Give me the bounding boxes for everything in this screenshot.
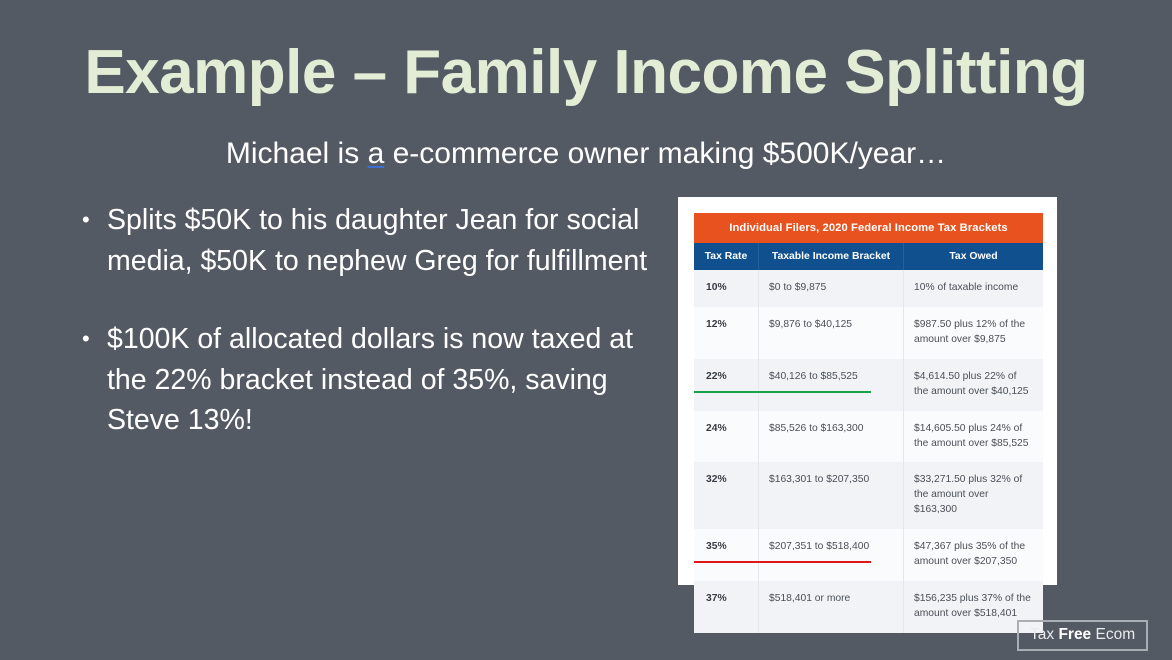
table-row: 35%$207,351 to $518,400$47,367 plus 35% … (694, 529, 1043, 581)
table-row: 10%$0 to $9,87510% of taxable income (694, 270, 1043, 307)
cell-taxable-income-bracket: $9,876 to $40,125 (759, 307, 904, 359)
column-header-tax-owed: Tax Owed (904, 243, 1044, 270)
logo-text-part-2: Free (1058, 626, 1091, 643)
cell-tax-rate: 32% (694, 462, 759, 529)
cell-tax-rate: 35% (694, 529, 759, 581)
page-title: Example – Family Income Splitting (0, 40, 1172, 105)
logo-text-part-1: Tax (1030, 626, 1058, 643)
column-header-taxable-income-bracket: Taxable Income Bracket (759, 243, 904, 270)
cell-taxable-income-bracket: $85,526 to $163,300 (759, 411, 904, 463)
cell-taxable-income-bracket: $163,301 to $207,350 (759, 462, 904, 529)
cell-tax-owed: $33,271.50 plus 32% of the amount over $… (904, 462, 1044, 529)
tax-bracket-table: Individual Filers, 2020 Federal Income T… (694, 213, 1043, 633)
table-row: 32%$163,301 to $207,350$33,271.50 plus 3… (694, 462, 1043, 529)
table-header: Tax Rate Taxable Income Bracket Tax Owed (694, 243, 1043, 270)
spellcheck-underlined-word: a (368, 137, 385, 170)
table-header-row: Tax Rate Taxable Income Bracket Tax Owed (694, 243, 1043, 270)
table-body: 10%$0 to $9,87510% of taxable income12%$… (694, 270, 1043, 633)
logo-text-part-3: Ecom (1091, 626, 1135, 643)
slide-subtitle: Michael is a e-commerce owner making $50… (0, 136, 1172, 172)
cell-tax-rate: 24% (694, 411, 759, 463)
column-header-tax-rate: Tax Rate (694, 243, 759, 270)
cell-tax-owed: $4,614.50 plus 22% of the amount over $4… (904, 359, 1044, 411)
tax-bracket-table-card: Individual Filers, 2020 Federal Income T… (678, 197, 1057, 585)
cell-tax-owed: $14,605.50 plus 24% of the amount over $… (904, 411, 1044, 463)
cell-tax-rate: 10% (694, 270, 759, 307)
subtitle-prefix: Michael is (226, 137, 368, 170)
cell-tax-rate: 22% (694, 359, 759, 411)
list-item-text: Splits $50K to his daughter Jean for soc… (107, 200, 654, 281)
table-row: 22%$40,126 to $85,525$4,614.50 plus 22% … (694, 359, 1043, 411)
cell-taxable-income-bracket: $518,401 or more (759, 581, 904, 633)
table-banner-title: Individual Filers, 2020 Federal Income T… (694, 213, 1043, 243)
cell-tax-owed: $47,367 plus 35% of the amount over $207… (904, 529, 1044, 581)
list-item-text: $100K of allocated dollars is now taxed … (107, 319, 654, 441)
subtitle-suffix: e-commerce owner making $500K/year… (384, 137, 946, 170)
table-row: 37%$518,401 or more$156,235 plus 37% of … (694, 581, 1043, 633)
bullet-dot-icon: • (74, 319, 107, 360)
cell-tax-owed: 10% of taxable income (904, 270, 1044, 307)
brand-logo: Tax Free Ecom (1017, 620, 1148, 651)
cell-taxable-income-bracket: $0 to $9,875 (759, 270, 904, 307)
cell-taxable-income-bracket: $207,351 to $518,400 (759, 529, 904, 581)
list-item: • Splits $50K to his daughter Jean for s… (74, 200, 654, 281)
slide-canvas: Example – Family Income Splitting Michae… (0, 0, 1172, 660)
list-item: • $100K of allocated dollars is now taxe… (74, 319, 654, 441)
cell-tax-rate: 12% (694, 307, 759, 359)
table-row: 12%$9,876 to $40,125$987.50 plus 12% of … (694, 307, 1043, 359)
bullet-list: • Splits $50K to his daughter Jean for s… (74, 200, 654, 479)
cell-taxable-income-bracket: $40,126 to $85,525 (759, 359, 904, 411)
bullet-dot-icon: • (74, 200, 107, 241)
cell-tax-owed: $987.50 plus 12% of the amount over $9,8… (904, 307, 1044, 359)
table-row: 24%$85,526 to $163,300$14,605.50 plus 24… (694, 411, 1043, 463)
cell-tax-rate: 37% (694, 581, 759, 633)
